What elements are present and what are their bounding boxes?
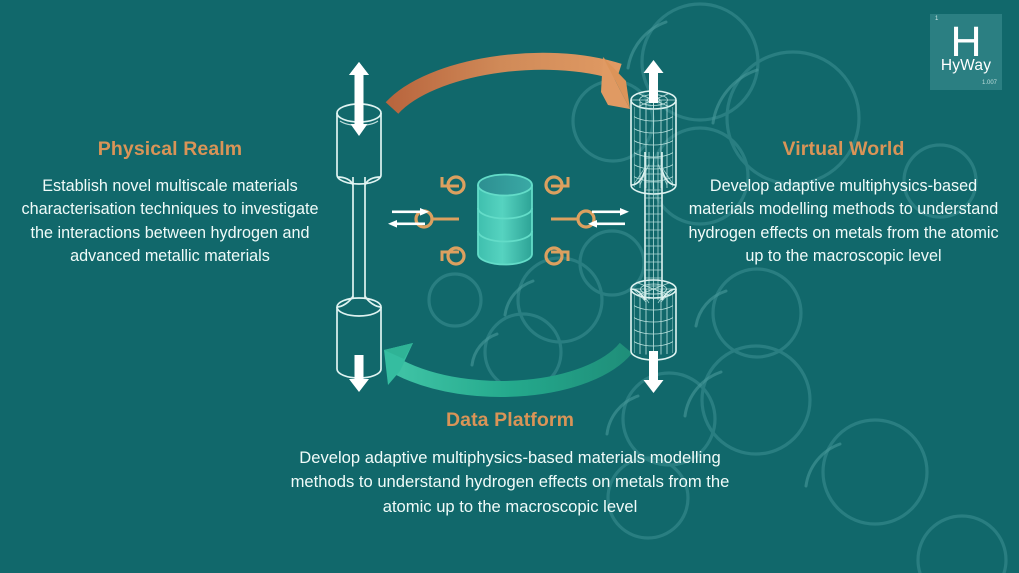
physical-to-virtual-arrow bbox=[392, 57, 630, 109]
logo-atomic-mass: 1.007 bbox=[982, 80, 997, 86]
panel-title-data-platform: Data Platform bbox=[266, 409, 754, 432]
panel-data-platform: Data Platform Develop adaptive multiphys… bbox=[266, 409, 754, 519]
panel-physical-realm: Physical Realm Establish novel multiscal… bbox=[18, 138, 322, 268]
panel-title-virtual-world: Virtual World bbox=[686, 138, 1001, 161]
panel-body-data-platform: Develop adaptive multiphysics-based mate… bbox=[266, 446, 754, 519]
virtual-to-physical-arrow bbox=[384, 343, 626, 389]
database-circuit-icon bbox=[416, 175, 594, 265]
panel-title-physical-realm: Physical Realm bbox=[18, 138, 322, 161]
panel-virtual-world: Virtual World Develop adaptive multiphys… bbox=[686, 138, 1001, 268]
logo-wordmark: HyWay bbox=[930, 58, 1002, 74]
infographic-canvas: Physical Realm Establish novel multiscal… bbox=[0, 0, 1019, 573]
tensile-test-specimen-physical bbox=[337, 104, 381, 378]
tensile-test-specimen-meshed bbox=[631, 91, 676, 360]
panel-body-physical-realm: Establish novel multiscale materials cha… bbox=[18, 175, 322, 268]
hyway-logo: 1 H HyWay 1.007 bbox=[930, 14, 1002, 90]
panel-body-virtual-world: Develop adaptive multiphysics-based mate… bbox=[686, 175, 1001, 268]
